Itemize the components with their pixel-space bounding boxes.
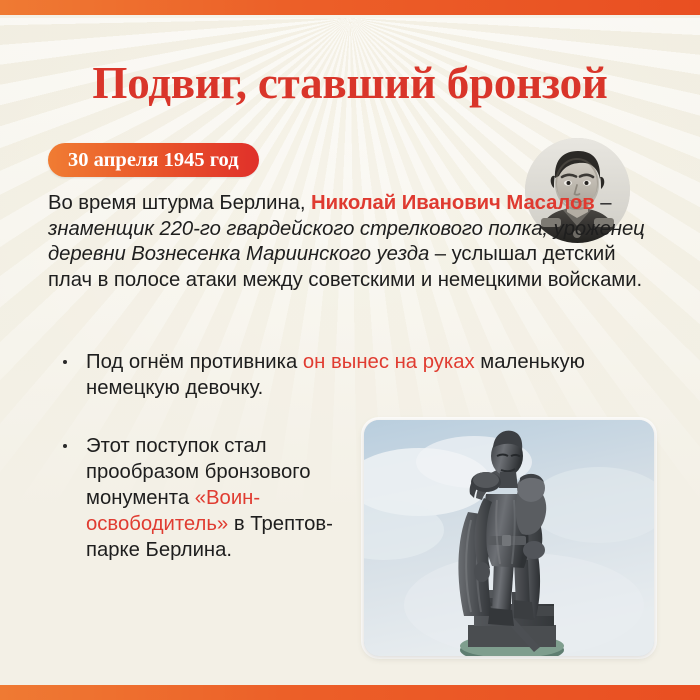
- paragraph-part2: –: [595, 192, 612, 214]
- list-item: Под огнём противника он вынес на руках м…: [58, 349, 606, 401]
- date-badge: 30 апреля 1945 год: [48, 143, 259, 177]
- monument-photo: [364, 420, 654, 656]
- bullet-dot-icon: [63, 444, 67, 448]
- bullet-1-highlight: он вынес на руках: [303, 351, 475, 373]
- paragraph-part1: Во время штурма Берлина,: [48, 192, 311, 214]
- monument-illustration: [364, 420, 654, 656]
- top-accent-bar: [0, 0, 700, 15]
- bullet-1-before: Под огнём противника: [86, 351, 303, 373]
- slide-root: Подвиг, ставший бронзой 30 апреля 1945 г…: [0, 0, 700, 700]
- page-title: Подвиг, ставший бронзой: [0, 57, 700, 109]
- date-badge-label: 30 апреля 1945 год: [68, 149, 239, 172]
- bullet-dot-icon: [63, 360, 67, 364]
- bottom-accent-bar: [0, 685, 700, 700]
- main-paragraph: Во время штурма Берлина, Николай Иванови…: [48, 191, 658, 293]
- list-item: Этот поступок стал прообразом бронзового…: [58, 433, 376, 563]
- person-name-highlight: Николай Иванович Масалов: [311, 192, 595, 214]
